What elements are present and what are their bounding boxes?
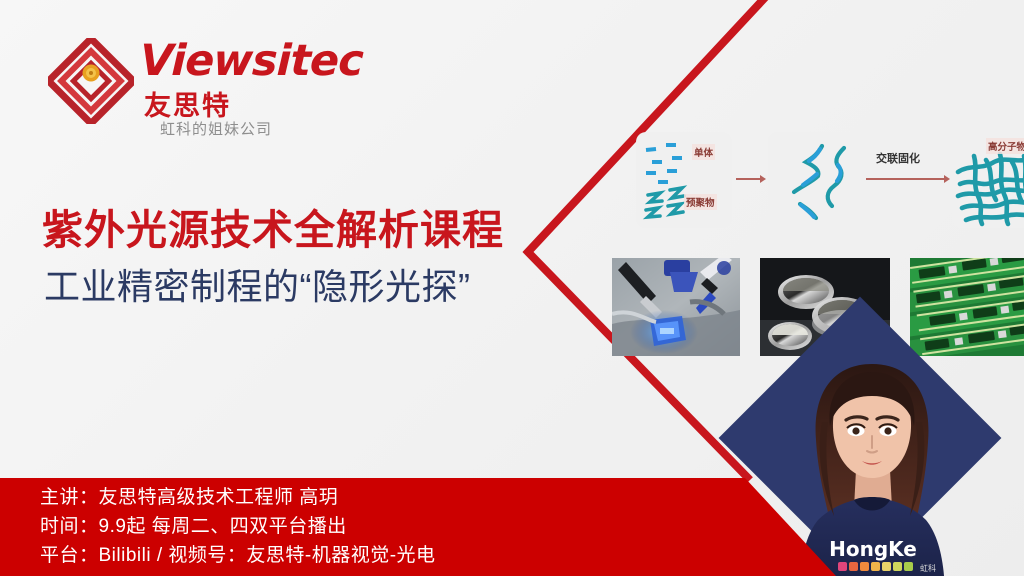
page-title: 紫外光源技术全解析课程 (42, 196, 504, 256)
footer-line-platform: 平台：Bilibili / 视频号：友思特-机器视觉-光电 (40, 541, 680, 570)
slide-canvas: Viewsitec 友思特 虹科的姐妹公司 (0, 0, 1024, 576)
panel-chain (768, 132, 864, 228)
label-monomer: 单体 (692, 144, 715, 160)
panel-network: 高分子物质 (952, 132, 1024, 228)
logo-tagline: 虹科的姐妹公司 (160, 118, 272, 139)
label-polymer: 高分子物质 (986, 138, 1024, 154)
concentric-diamonds-logo-mark-icon (48, 38, 134, 124)
arrow-2-icon (866, 172, 950, 184)
label-prepolymer: 预聚物 (684, 194, 717, 210)
label-crosslink: 交联固化 (876, 150, 920, 166)
photo-uv-glue-dispensing (612, 258, 740, 356)
page-subtitle: 工业精密制程的“隐形光探” (44, 258, 470, 310)
footer-line-speaker: 主讲：友思特高级技术工程师 高玥 (40, 483, 680, 512)
arrow-1-icon (736, 172, 766, 184)
panel-monomer: 单体 预聚物 (636, 132, 732, 228)
uv-curing-diagram: 单体 预聚物 (608, 112, 1024, 244)
footer-line-schedule: 时间：9.9起 每周二、四双平台播出 (40, 512, 680, 541)
brand-logo: Viewsitec 友思特 虹科的姐妹公司 (48, 36, 348, 141)
footer-details: 主讲：友思特高级技术工程师 高玥 时间：9.9起 每周二、四双平台播出 平台：B… (40, 483, 680, 570)
logo-wordmark: Viewsitec (139, 36, 363, 86)
